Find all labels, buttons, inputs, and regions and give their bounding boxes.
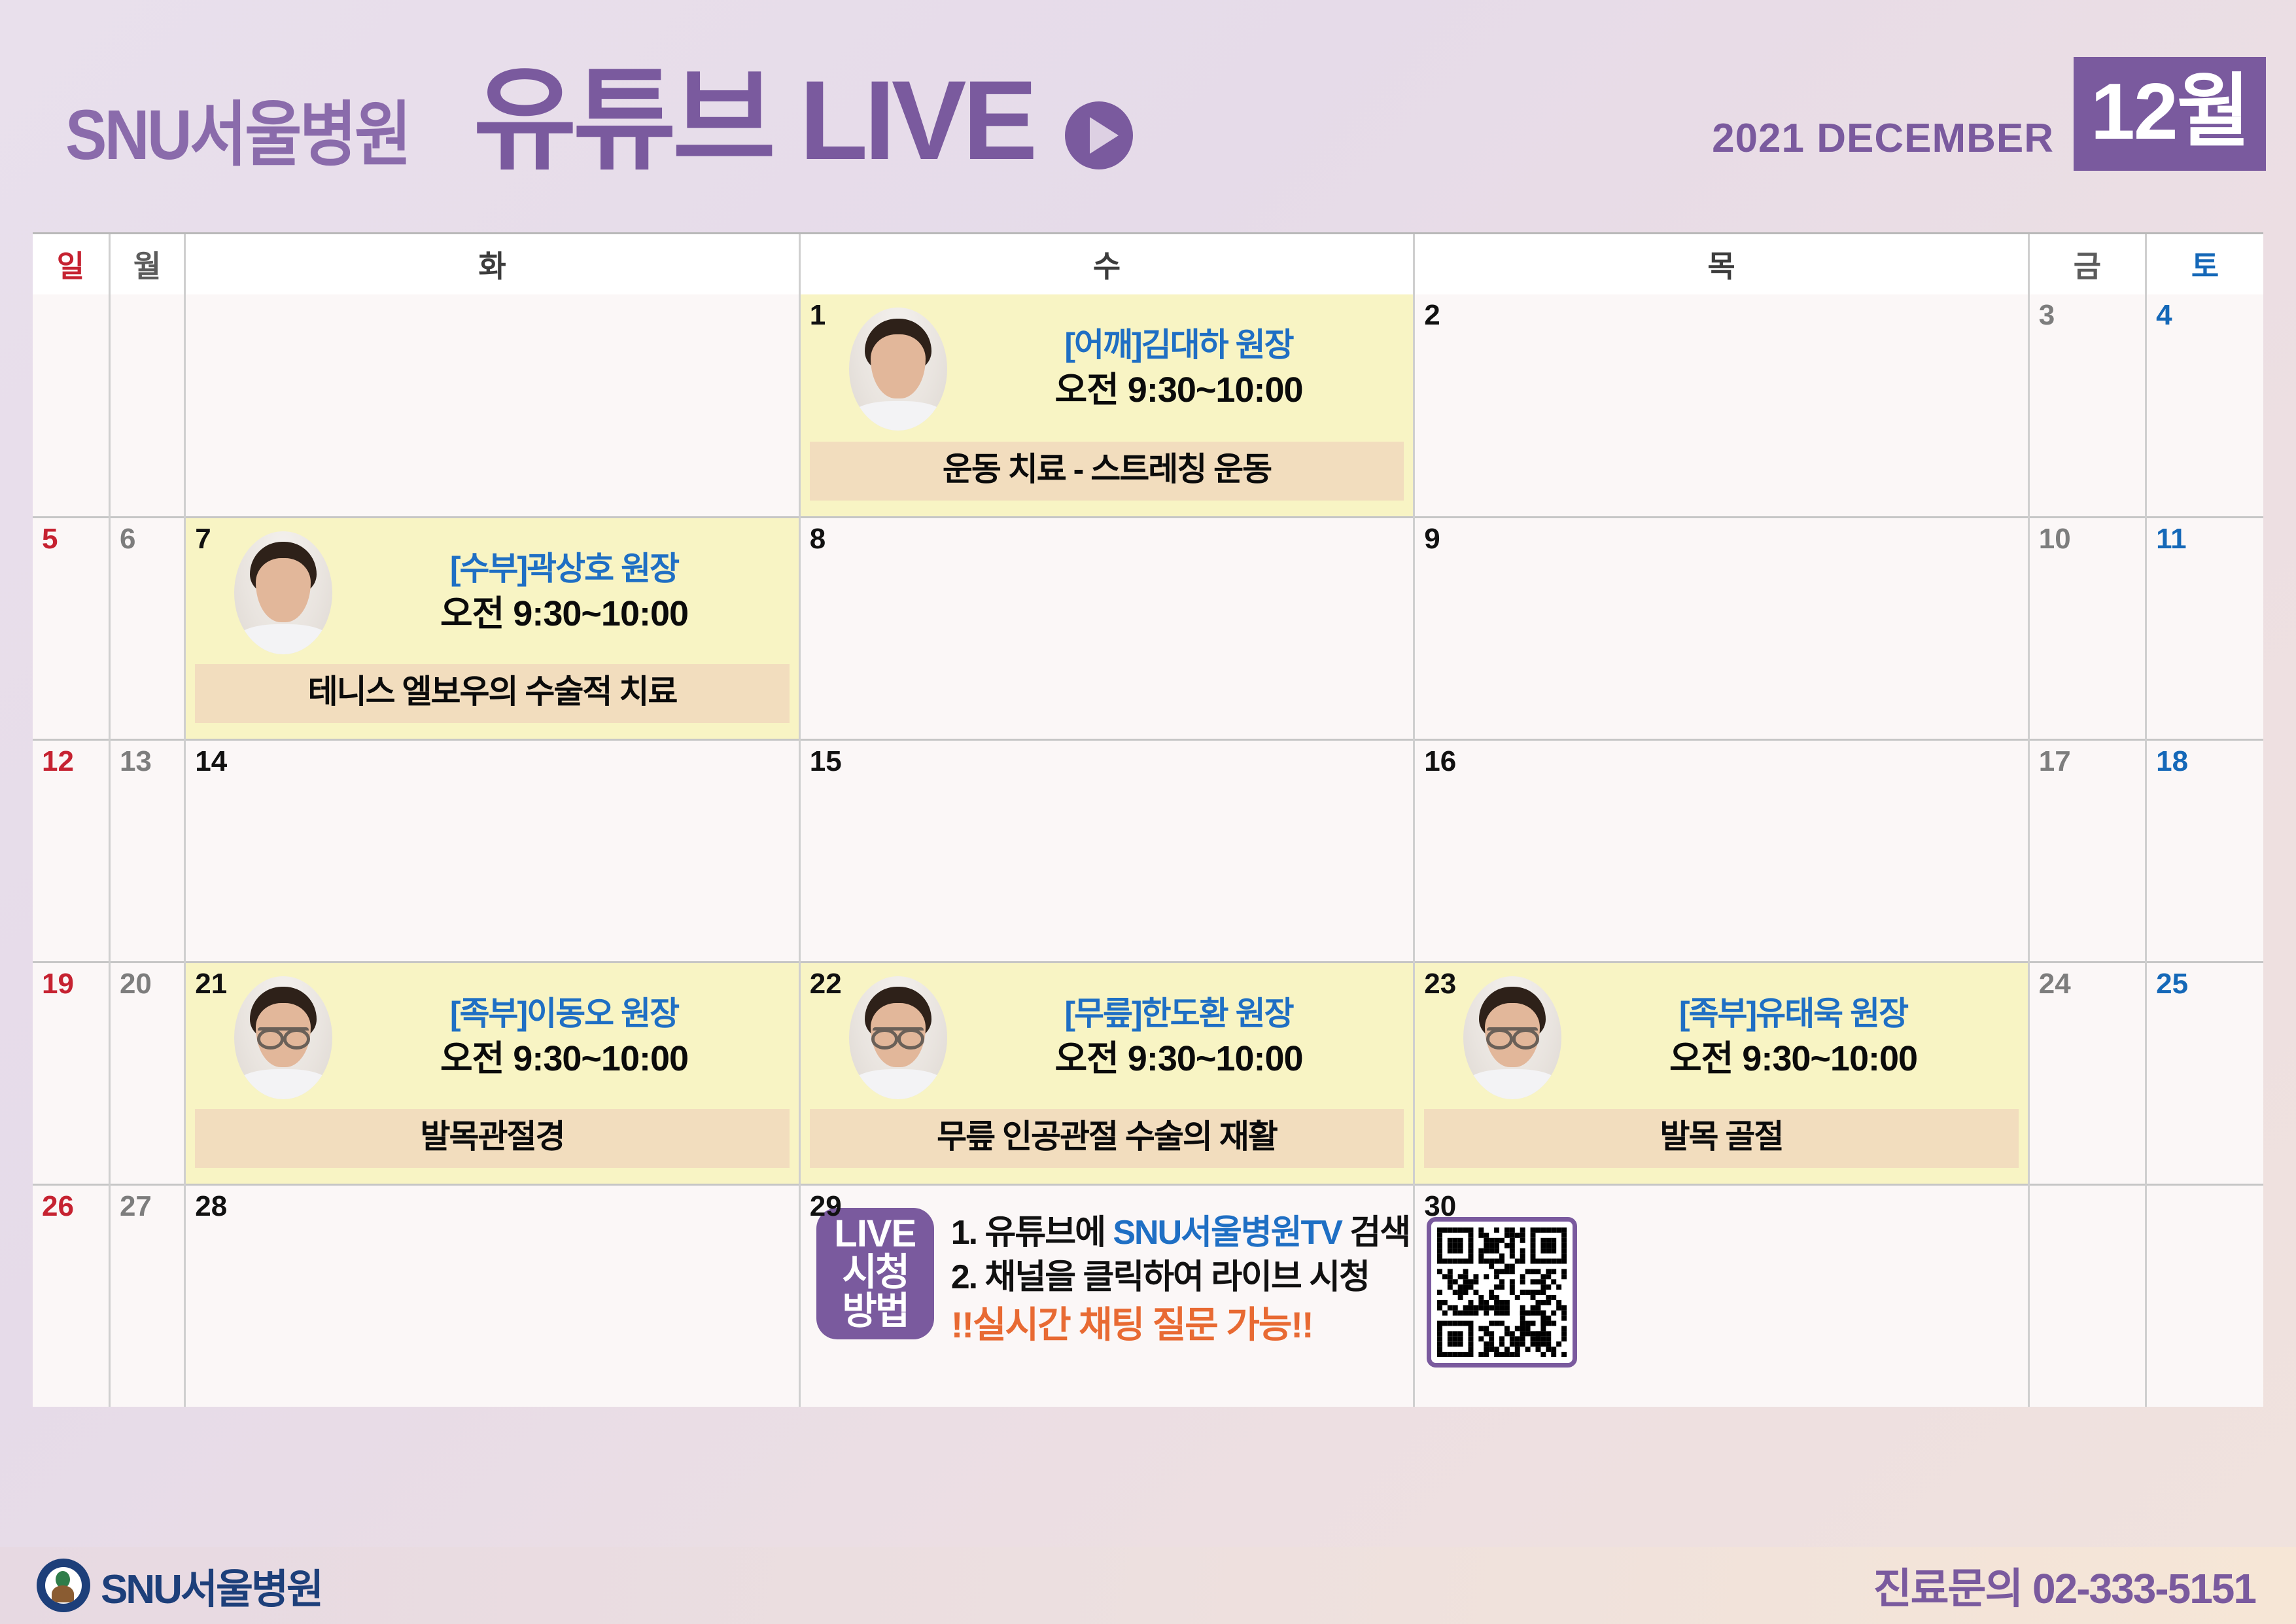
calendar-header-row: 일월화수목금토 — [33, 234, 2263, 294]
broadcast-time-label: 오전 9:30~10:00 — [1578, 1037, 2008, 1082]
live-event-text: [수부]곽상호 원장오전 9:30~10:00 — [349, 549, 787, 637]
calendar-day-cell: 20 — [109, 962, 184, 1184]
calendar-day-number: 19 — [42, 970, 74, 998]
doctor-name-label: [무릎]한도환 원장 — [964, 994, 1394, 1033]
calendar-day-cell: 10 — [2028, 517, 2146, 739]
poster-root: SNU서울병원 유튜브 LIVE 2021 DECEMBER 12월 일월화수목… — [0, 0, 2296, 1624]
calendar-week-row: 262728LIVE시청방법1. 유튜브에 SNU서울병원TV 검색2. 채널을… — [33, 1184, 2263, 1407]
calendar-day-cell: 27 — [109, 1184, 184, 1407]
calendar-day-cell: 5 — [33, 517, 109, 739]
calendar-dow-mon: 월 — [109, 234, 184, 294]
calendar-dow-fri: 금 — [2028, 234, 2146, 294]
footer-phone[interactable]: 진료문의 02-333-5151 — [1873, 1555, 2255, 1615]
calendar-day-cell: 16 — [1414, 739, 2029, 962]
footer-logo-wordmark: SNU서울병원 — [101, 1556, 322, 1615]
how-to-step-1-suffix: 검색 — [1342, 1214, 1410, 1252]
calendar-table: 일월화수목금토 [어깨]김대하 원장오전 9:30~10:00운동 치료 - 스… — [33, 234, 2263, 1407]
calendar-day-number: 24 — [2039, 970, 2071, 998]
calendar-day-cell[interactable]: [수부]곽상호 원장오전 9:30~10:00테니스 엘보우의 수술적 치료7 — [185, 517, 800, 739]
calendar-grid: 일월화수목금토 [어깨]김대하 원장오전 9:30~10:00운동 치료 - 스… — [33, 232, 2263, 1407]
calendar-empty-cell — [109, 294, 184, 517]
calendar-day-cell: 19 — [33, 962, 109, 1184]
calendar-day-cell: 8 — [799, 517, 1414, 739]
calendar-day-cell: 14 — [185, 739, 800, 962]
calendar-body: [어깨]김대하 원장오전 9:30~10:00운동 치료 - 스트레칭 운동12… — [33, 294, 2263, 1407]
calendar-dow-sun: 일 — [33, 234, 109, 294]
calendar-day-number: 14 — [195, 747, 227, 776]
live-badge-line: 방법 — [816, 1292, 934, 1330]
calendar-day-cell: 3 — [2028, 294, 2146, 517]
calendar-day-number: 30 — [1424, 1192, 1456, 1221]
calendar-day-number: 17 — [2039, 747, 2071, 776]
calendar-day-number: 6 — [120, 525, 135, 554]
live-badge-line: 시청 — [816, 1253, 934, 1292]
calendar-day-cell[interactable]: [무릎]한도환 원장오전 9:30~10:00무릎 인공관절 수술의 재활22 — [799, 962, 1414, 1184]
calendar-day-cell: 28 — [185, 1184, 800, 1407]
calendar-day-number: 21 — [195, 970, 227, 998]
calendar-day-cell: 13 — [109, 739, 184, 962]
calendar-empty-cell — [2146, 1184, 2263, 1407]
calendar-day-number: 26 — [42, 1192, 74, 1221]
doctor-name-label: [어깨]김대하 원장 — [964, 325, 1394, 364]
calendar-dow-tue: 화 — [185, 234, 800, 294]
calendar-week-row: [어깨]김대하 원장오전 9:30~10:00운동 치료 - 스트레칭 운동12… — [33, 294, 2263, 517]
calendar-day-number: 3 — [2039, 301, 2055, 330]
calendar-day-cell[interactable]: [족부]이동오 원장오전 9:30~10:00발목관절경21 — [185, 962, 800, 1184]
doctor-portrait-avatar — [234, 531, 332, 654]
calendar-day-number: 12 — [42, 747, 74, 776]
calendar-day-number: 2 — [1424, 301, 1440, 330]
poster-footer: SNU서울병원 진료문의 02-333-5151 — [0, 1547, 2296, 1624]
calendar-day-cell: 25 — [2146, 962, 2263, 1184]
english-month-label: 2021 DECEMBER — [1712, 115, 2054, 171]
brand-title-group: SNU서울병원 유튜브 LIVE — [65, 52, 1133, 180]
calendar-day-cell: 15 — [799, 739, 1414, 962]
live-event-header: [어깨]김대하 원장오전 9:30~10:00 — [801, 294, 1414, 431]
doctor-portrait-avatar — [849, 308, 947, 431]
live-event-text: [무릎]한도환 원장오전 9:30~10:00 — [964, 994, 1402, 1082]
broadcast-time-label: 오전 9:30~10:00 — [349, 592, 779, 637]
calendar-day-number: 29 — [810, 1192, 842, 1221]
calendar-day-cell: 11 — [2146, 517, 2263, 739]
lecture-topic-banner: 운동 치료 - 스트레칭 운동 — [810, 442, 1404, 501]
doctor-name-label: [족부]유태욱 원장 — [1578, 994, 2008, 1033]
calendar-day-cell: 26 — [33, 1184, 109, 1407]
calendar-day-number: 27 — [120, 1192, 152, 1221]
calendar-day-number: 23 — [1424, 970, 1456, 998]
calendar-day-number: 18 — [2156, 747, 2188, 776]
youtube-channel-name: SNU서울병원TV — [1113, 1214, 1342, 1252]
calendar-dow-sat: 토 — [2146, 234, 2263, 294]
doctor-portrait-avatar — [849, 976, 947, 1099]
brand-subtitle: SNU서울병원 — [65, 78, 409, 180]
calendar-dow-wed: 수 — [799, 234, 1414, 294]
live-event-text: [어깨]김대하 원장오전 9:30~10:00 — [964, 325, 1402, 413]
how-to-step-1: 1. 유튜브에 SNU서울병원TV 검색 — [951, 1210, 1410, 1256]
broadcast-time-label: 오전 9:30~10:00 — [964, 368, 1394, 413]
snu-seoul-hospital-logo-icon — [37, 1559, 90, 1612]
calendar-day-number: 1 — [810, 301, 826, 330]
calendar-day-cell: 18 — [2146, 739, 2263, 962]
calendar-day-number: 13 — [120, 747, 152, 776]
broadcast-time-label: 오전 9:30~10:00 — [964, 1037, 1394, 1082]
live-event-card[interactable]: [어깨]김대하 원장오전 9:30~10:00운동 치료 - 스트레칭 운동 — [801, 294, 1414, 516]
calendar-day-number: 20 — [120, 970, 152, 998]
calendar-day-cell: 6 — [109, 517, 184, 739]
broadcast-time-label: 오전 9:30~10:00 — [349, 1037, 779, 1082]
calendar-day-cell[interactable]: [어깨]김대하 원장오전 9:30~10:00운동 치료 - 스트레칭 운동1 — [799, 294, 1414, 517]
calendar-day-number: 10 — [2039, 525, 2071, 554]
live-event-card[interactable]: [족부]이동오 원장오전 9:30~10:00발목관절경 — [186, 963, 799, 1184]
live-event-header: [무릎]한도환 원장오전 9:30~10:00 — [801, 963, 1414, 1099]
calendar-dow-thu: 목 — [1414, 234, 2029, 294]
play-triangle-icon — [1065, 101, 1133, 169]
lecture-topic-banner: 발목관절경 — [195, 1109, 790, 1168]
calendar-day-cell[interactable]: [족부]유태욱 원장오전 9:30~10:00발목 골절23 — [1414, 962, 2029, 1184]
calendar-day-cell: 30 — [1414, 1184, 2029, 1407]
live-event-card[interactable]: [무릎]한도환 원장오전 9:30~10:00무릎 인공관절 수술의 재활 — [801, 963, 1414, 1184]
month-badge: 12월 — [2074, 57, 2266, 171]
live-event-text: [족부]유태욱 원장오전 9:30~10:00 — [1578, 994, 2016, 1082]
calendar-day-cell: 12 — [33, 739, 109, 962]
live-event-header: [수부]곽상호 원장오전 9:30~10:00 — [186, 518, 799, 654]
lecture-topic-banner: 발목 골절 — [1424, 1109, 2019, 1168]
footer-logo-group: SNU서울병원 — [37, 1556, 322, 1615]
calendar-week-row: 56[수부]곽상호 원장오전 9:30~10:00테니스 엘보우의 수술적 치료… — [33, 517, 2263, 739]
live-event-card[interactable]: [족부]유태욱 원장오전 9:30~10:00발목 골절 — [1415, 963, 2028, 1184]
doctor-portrait-avatar — [234, 976, 332, 1099]
calendar-day-number: 4 — [2156, 301, 2172, 330]
lecture-topic-banner: 무릎 인공관절 수술의 재활 — [810, 1109, 1404, 1168]
live-watch-badge: LIVE시청방법 — [816, 1208, 934, 1339]
calendar-day-cell: 4 — [2146, 294, 2263, 517]
calendar-day-cell: 17 — [2028, 739, 2146, 962]
live-event-text: [족부]이동오 원장오전 9:30~10:00 — [349, 994, 787, 1082]
calendar-day-cell: 24 — [2028, 962, 2146, 1184]
calendar-day-number: 15 — [810, 747, 842, 776]
calendar-day-number: 28 — [195, 1192, 227, 1221]
calendar-day-cell: 2 — [1414, 294, 2029, 517]
calendar-week-row: 12131415161718 — [33, 739, 2263, 962]
calendar-empty-cell — [185, 294, 800, 517]
calendar-week-row: 1920[족부]이동오 원장오전 9:30~10:00발목관절경21[무릎]한도… — [33, 962, 2263, 1184]
poster-header: SNU서울병원 유튜브 LIVE 2021 DECEMBER 12월 — [0, 0, 2296, 232]
calendar-empty-cell — [2028, 1184, 2146, 1407]
brand-main-title: 유튜브 LIVE — [473, 64, 1034, 177]
lecture-topic-banner: 테니스 엘보우의 수술적 치료 — [195, 664, 790, 723]
realtime-chat-note: !!실시간 채팅 질문 가능!! — [951, 1301, 1410, 1349]
calendar-day-number: 8 — [810, 525, 826, 554]
calendar-day-number: 7 — [195, 525, 211, 554]
live-event-card[interactable]: [수부]곽상호 원장오전 9:30~10:00테니스 엘보우의 수술적 치료 — [186, 518, 799, 739]
doctor-portrait-avatar — [1463, 976, 1561, 1099]
how-to-step-2: 2. 채널을 클릭하여 라이브 시청 — [951, 1255, 1410, 1300]
live-event-header: [족부]이동오 원장오전 9:30~10:00 — [186, 963, 799, 1099]
calendar-day-cell[interactable]: LIVE시청방법1. 유튜브에 SNU서울병원TV 검색2. 채널을 클릭하여 … — [799, 1184, 1414, 1407]
calendar-empty-cell — [33, 294, 109, 517]
calendar-day-number: 5 — [42, 525, 58, 554]
month-group: 2021 DECEMBER 12월 — [1712, 57, 2266, 176]
how-to-watch-block: LIVE시청방법1. 유튜브에 SNU서울병원TV 검색2. 채널을 클릭하여 … — [816, 1208, 1407, 1402]
how-to-step-1-prefix: 1. 유튜브에 — [951, 1214, 1113, 1252]
calendar-day-number: 22 — [810, 970, 842, 998]
doctor-name-label: [족부]이동오 원장 — [349, 994, 779, 1033]
calendar-day-number: 25 — [2156, 970, 2188, 998]
live-event-header: [족부]유태욱 원장오전 9:30~10:00 — [1415, 963, 2028, 1099]
how-to-watch-steps: 1. 유튜브에 SNU서울병원TV 검색2. 채널을 클릭하여 라이브 시청!!… — [951, 1208, 1410, 1349]
calendar-day-cell: 9 — [1414, 517, 2029, 739]
calendar-day-number: 11 — [2156, 525, 2187, 554]
doctor-name-label: [수부]곽상호 원장 — [349, 549, 779, 588]
calendar-day-number: 9 — [1424, 525, 1440, 554]
calendar-day-number: 16 — [1424, 747, 1456, 776]
